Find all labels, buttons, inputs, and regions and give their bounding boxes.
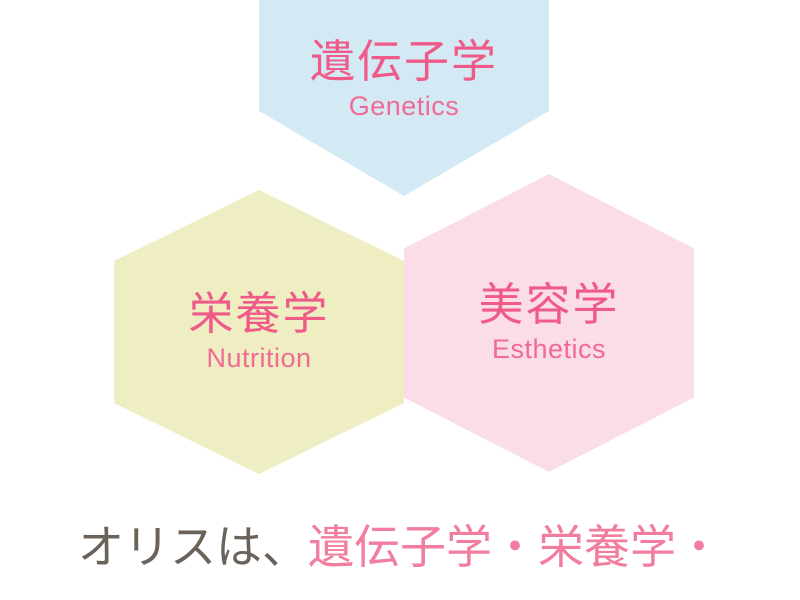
hexagon-genetics-en-label: Genetics [349,92,460,122]
caption-line: オリスは、遺伝子学・栄養学・ [0,520,800,575]
hexagon-nutrition-en-label: Nutrition [206,344,311,374]
caption-dark-segment: オリスは、 [78,521,308,573]
hexagon-esthetics-jp-label: 美容学 [478,281,619,330]
hexagon-nutrition-jp-label: 栄養学 [188,290,329,339]
diagram-canvas: 遺伝子学 Genetics 栄養学 Nutrition 美容学 Esthetic… [0,0,800,600]
hexagon-genetics-jp-label: 遺伝子学 [310,38,498,87]
hexagon-esthetics-en-label: Esthetics [492,335,606,365]
caption-pink-segment: 遺伝子学・栄養学・ [308,521,722,573]
hexagon-genetics[interactable]: 遺伝子学 Genetics [259,0,549,196]
hexagon-esthetics[interactable]: 美容学 Esthetics [404,174,694,472]
hexagon-nutrition[interactable]: 栄養学 Nutrition [114,190,404,474]
